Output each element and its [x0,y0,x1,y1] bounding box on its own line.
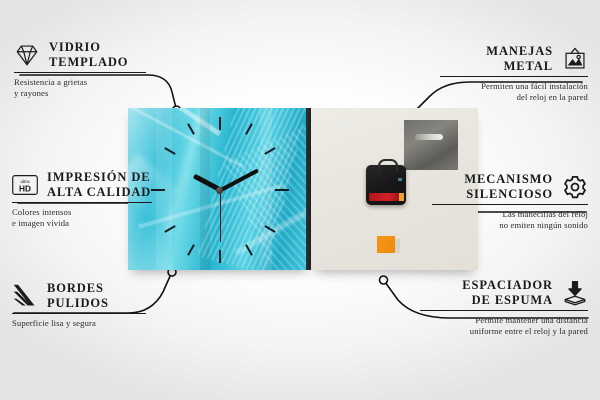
clock-center-cap [216,187,223,194]
feature-manejas-metal: MANEJAS METAL Permiten una fácil instala… [440,44,588,103]
feather-band [200,108,210,270]
clock-front-panel [128,108,310,270]
clock-tick [219,117,221,130]
clock-tick [219,250,221,263]
clock-second-hand [220,190,221,242]
diamond-icon [14,42,40,68]
clock-tick [187,244,195,255]
foam-spacer-side [395,239,400,253]
mechanism-hanging-loop [378,159,398,171]
feature-subtitle: Resistencia a grietas y rayones [14,77,146,99]
foam-spacer-icon [562,280,588,306]
ultra-hd-icon: ultra HD [12,172,38,198]
infographic-canvas: VIDRIO TEMPLADO Resistencia a grietas y … [0,0,600,400]
feature-title: MANEJAS METAL [486,44,553,73]
svg-text:HD: HD [19,183,31,193]
feature-bordes-pulidos: BORDES PULIDOS Superficie lisa y segura [12,281,146,329]
picture-hanger-icon [562,46,588,72]
feature-title: IMPRESIÓN DE ALTA CALIDAD [47,170,151,199]
divider [12,313,146,314]
divider [432,204,588,205]
product-photo [128,108,478,270]
divider [14,72,146,73]
clock-tick [151,189,165,191]
feature-title: MECANISMO SILENCIOSO [464,172,553,201]
gear-icon [562,174,588,200]
hanger-slot [415,134,443,140]
feature-title: BORDES PULIDOS [47,281,109,310]
divider [420,310,588,311]
feature-subtitle: Permiten una fácil instalación del reloj… [440,81,588,103]
feature-impresion-alta-calidad: ultra HD IMPRESIÓN DE ALTA CALIDAD Color… [12,170,152,229]
divider [440,76,588,77]
feature-vidrio-templado: VIDRIO TEMPLADO Resistencia a grietas y … [14,40,146,99]
feature-mecanismo-silencioso: MECANISMO SILENCIOSO Las manecillas del … [432,172,588,231]
feature-subtitle: Superficie lisa y segura [12,318,146,329]
battery-terminal [399,193,404,201]
battery-compartment [369,193,403,201]
clock-tick [275,189,289,191]
feature-subtitle: Colores intensos e imagen vívida [12,207,152,229]
foam-spacer [377,236,395,253]
feature-subtitle: Permite mantener una distancia uniforme … [420,315,588,337]
feature-subtitle: Las manecillas del reloj no emiten ningú… [432,209,588,231]
feather-band [260,108,272,270]
connector-marker-espaciador [380,276,388,284]
feature-title: ESPACIADOR DE ESPUMA [462,278,553,307]
clock-mechanism-box [366,165,406,205]
mechanism-marking [398,178,402,181]
polished-edge-icon [12,283,38,309]
metal-hanger-plate [404,120,458,170]
feature-espaciador-espuma: ESPACIADOR DE ESPUMA Permite mantener un… [420,278,588,337]
feature-title: VIDRIO TEMPLADO [49,40,128,69]
divider [12,202,152,203]
